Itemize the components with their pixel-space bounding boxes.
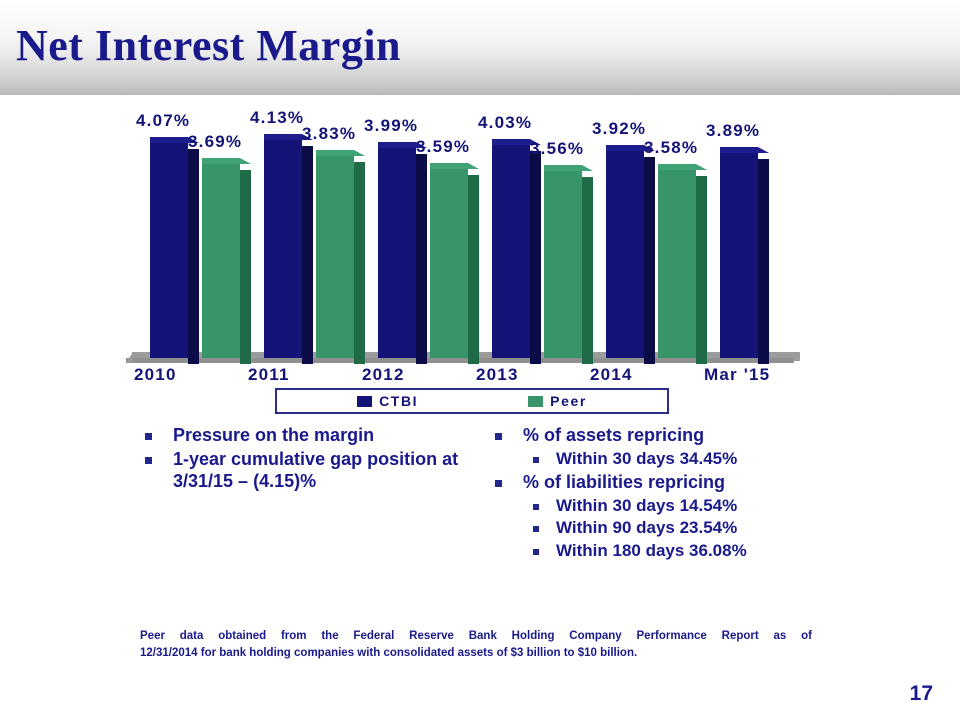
page-number: 17 (910, 682, 933, 706)
footnote-line-1: Peer data obtained from the Federal Rese… (140, 628, 812, 645)
bar-front-face (492, 145, 530, 358)
bullet-column-left: Pressure on the margin1-year cumulative … (145, 425, 475, 495)
bar-front-face (150, 143, 188, 358)
bar-top-face (720, 147, 758, 153)
category-label-mar15: Mar '15 (704, 365, 804, 385)
slide-header-band: Net Interest Margin (0, 0, 960, 95)
bar-side-face (354, 162, 365, 364)
bar-front-face (378, 148, 416, 358)
bar-ctbi-2010 (150, 137, 188, 358)
bar-front-face (316, 156, 354, 358)
bar-front-face (720, 153, 758, 358)
bar-top-bevel (354, 150, 365, 156)
chart-floor-front (126, 358, 794, 363)
bar-top-bevel (468, 163, 479, 169)
bar-side-face (696, 176, 707, 364)
bullet-square-icon (145, 433, 152, 440)
bar-side-face (644, 157, 655, 364)
bullet-content: Pressure on the margin1-year cumulative … (0, 425, 960, 620)
bar-side-face (468, 175, 479, 364)
bar-value-label: 4.03% (478, 113, 532, 133)
bullet-square-icon (533, 526, 539, 532)
bullet-column-right: % of assets repricingWithin 30 days 34.4… (495, 425, 845, 564)
legend-entry-peer: Peer (528, 393, 587, 409)
bar-value-label: 4.07% (136, 111, 190, 131)
bar-top-face (658, 164, 696, 170)
bullet-text: Within 30 days 34.45% (556, 449, 737, 470)
bullet-item: Within 180 days 36.08% (533, 541, 845, 562)
bullet-text: Pressure on the margin (173, 425, 374, 447)
legend-swatch-peer-icon (528, 396, 543, 407)
bullet-item: Within 30 days 34.45% (533, 449, 845, 470)
chart-floor-left-cap (126, 352, 133, 363)
bar-peer-2012 (430, 163, 468, 358)
bar-front-face (658, 170, 696, 358)
legend-swatch-ctbi-icon (357, 396, 372, 407)
bar-value-label: 3.92% (592, 119, 646, 139)
bar-value-label: 3.56% (530, 139, 584, 159)
bar-value-label: 3.69% (188, 132, 242, 152)
bullet-item: % of liabilities repricing (495, 472, 845, 494)
bar-ctbi-2011 (264, 134, 302, 358)
bullet-text: % of assets repricing (523, 425, 704, 447)
bar-top-bevel (696, 164, 707, 170)
bullet-item: 1-year cumulative gap position at 3/31/1… (145, 449, 475, 493)
bar-top-face (544, 165, 582, 171)
bar-side-face (582, 177, 593, 364)
bullet-text: % of liabilities repricing (523, 472, 725, 494)
bar-top-face (202, 158, 240, 164)
bar-peer-2014 (658, 164, 696, 358)
bar-side-face (758, 159, 769, 364)
bar-peer-2013 (544, 165, 582, 358)
bar-side-face (188, 149, 199, 364)
bar-top-bevel (758, 147, 769, 153)
footnote: Peer data obtained from the Federal Rese… (140, 628, 812, 661)
page-title: Net Interest Margin (16, 20, 401, 71)
bar-top-face (492, 139, 530, 145)
category-label-2010: 2010 (134, 365, 234, 385)
bullet-text: Within 30 days 14.54% (556, 496, 737, 517)
bar-top-face (378, 142, 416, 148)
bullet-square-icon (533, 457, 539, 463)
bar-top-face (150, 137, 188, 143)
chart-floor-right-cap (793, 352, 800, 363)
bar-value-label: 3.83% (302, 124, 356, 144)
category-label-2014: 2014 (590, 365, 690, 385)
bullet-square-icon (495, 433, 502, 440)
category-label-2013: 2013 (476, 365, 576, 385)
legend-label-ctbi: CTBI (379, 393, 418, 409)
bar-side-face (416, 154, 427, 364)
category-label-2011: 2011 (248, 365, 348, 385)
legend-entry-ctbi: CTBI (357, 393, 418, 409)
net-interest-margin-chart: 4.07%4.13%3.99%4.03%3.92%3.89%3.69%3.83%… (0, 100, 960, 400)
bar-top-bevel (582, 165, 593, 171)
bar-side-face (302, 146, 313, 364)
bar-front-face (264, 140, 302, 358)
bar-front-face (202, 164, 240, 358)
bar-ctbi-2013 (492, 139, 530, 358)
bar-value-label: 3.99% (364, 116, 418, 136)
bullet-square-icon (533, 504, 539, 510)
category-label-2012: 2012 (362, 365, 462, 385)
bullet-square-icon (145, 457, 152, 464)
bar-top-bevel (240, 158, 251, 164)
bar-front-face (606, 151, 644, 358)
bar-top-face (430, 163, 468, 169)
bullet-text: Within 180 days 36.08% (556, 541, 747, 562)
footnote-line-2: 12/31/2014 for bank holding companies wi… (140, 645, 812, 662)
bullet-text: Within 90 days 23.54% (556, 518, 737, 539)
bar-side-face (530, 151, 541, 364)
bar-front-face (544, 171, 582, 358)
bar-value-label: 4.13% (250, 108, 304, 128)
bar-ctbi-2014 (606, 145, 644, 358)
bar-value-label: 3.89% (706, 121, 760, 141)
bar-value-label: 3.58% (644, 138, 698, 158)
bar-top-face (316, 150, 354, 156)
bar-front-face (430, 169, 468, 358)
bullet-item: % of assets repricing (495, 425, 845, 447)
bar-ctbi-2012 (378, 142, 416, 358)
bullet-square-icon (533, 549, 539, 555)
bar-side-face (240, 170, 251, 364)
bullet-item: Within 90 days 23.54% (533, 518, 845, 539)
bullet-item: Within 30 days 14.54% (533, 496, 845, 517)
bar-value-label: 3.59% (416, 137, 470, 157)
chart-legend: CTBI Peer (275, 388, 669, 414)
legend-label-peer: Peer (550, 393, 587, 409)
bullet-item: Pressure on the margin (145, 425, 475, 447)
bullet-text: 1-year cumulative gap position at 3/31/1… (173, 449, 475, 493)
bar-top-face (264, 134, 302, 140)
bar-peer-2011 (316, 150, 354, 358)
bar-top-face (606, 145, 644, 151)
bar-ctbi-mar15 (720, 147, 758, 358)
bullet-square-icon (495, 480, 502, 487)
bar-peer-2010 (202, 158, 240, 358)
